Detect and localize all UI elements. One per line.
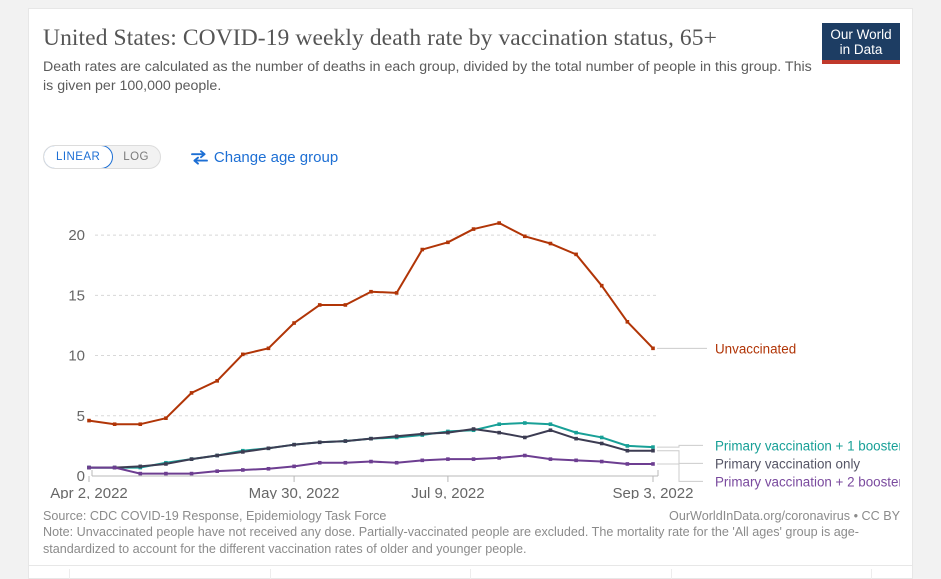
series-point[interactable] [574, 459, 578, 463]
series-point[interactable] [651, 449, 655, 453]
series-point[interactable] [215, 454, 219, 458]
series-point[interactable] [626, 449, 630, 453]
scale-option-linear[interactable]: LINEAR [43, 145, 113, 169]
series-point[interactable] [344, 439, 348, 443]
series-point[interactable] [395, 461, 399, 465]
series-point[interactable] [395, 291, 399, 295]
tab-placeholder-2[interactable] [270, 569, 471, 579]
series-point[interactable] [190, 457, 194, 461]
series-point[interactable] [523, 421, 527, 425]
scale-option-log[interactable]: LOG [112, 146, 160, 168]
chart-header: United States: COVID-19 weekly death rat… [43, 25, 813, 96]
series-point[interactable] [549, 422, 553, 426]
series-point[interactable] [523, 454, 527, 458]
series-point[interactable] [164, 472, 168, 476]
series-point[interactable] [87, 419, 91, 423]
series-point[interactable] [446, 241, 450, 245]
owid-logo-line1: Our World [828, 27, 894, 42]
line-chart[interactable]: 05101520Apr 2, 2022May 30, 2022Jul 9, 20… [43, 179, 900, 499]
y-axis-tick-label: 15 [68, 287, 85, 304]
series-point[interactable] [600, 460, 604, 464]
chart-controls: LINEAR LOG Change age group [43, 145, 344, 169]
series-point[interactable] [472, 427, 476, 431]
note-text: Note: Unvaccinated people have not recei… [43, 524, 900, 557]
series-point[interactable] [241, 450, 245, 454]
series-point[interactable] [626, 444, 630, 448]
tab-placeholder-1[interactable] [69, 569, 270, 579]
y-axis-tick-label: 0 [77, 468, 85, 485]
x-axis-tick-label: Sep 3, 2022 [613, 485, 694, 499]
series-point[interactable] [549, 242, 553, 246]
series-point[interactable] [318, 440, 322, 444]
chart-subtitle: Death rates are calculated as the number… [43, 58, 813, 96]
legend-label-unvaccinated[interactable]: Unvaccinated [715, 341, 796, 356]
series-point[interactable] [626, 462, 630, 466]
series-point[interactable] [472, 457, 476, 461]
change-age-group-button[interactable]: Change age group [185, 148, 344, 167]
series-point[interactable] [497, 456, 501, 460]
series-point[interactable] [215, 469, 219, 473]
series-point[interactable] [267, 446, 271, 450]
series-point[interactable] [574, 253, 578, 257]
series-point[interactable] [446, 457, 450, 461]
legend-leader-line [657, 464, 703, 481]
series-point[interactable] [241, 468, 245, 472]
legend-label-primary-only[interactable]: Primary vaccination only [715, 456, 860, 471]
tab-placeholder-3[interactable] [470, 569, 671, 579]
series-point[interactable] [549, 457, 553, 461]
series-point[interactable] [138, 465, 142, 469]
series-point[interactable] [241, 353, 245, 357]
scale-toggle[interactable]: LINEAR LOG [43, 145, 161, 169]
series-point[interactable] [318, 461, 322, 465]
series-point[interactable] [472, 227, 476, 231]
series-point[interactable] [369, 290, 373, 294]
x-axis-tick-label: Jul 9, 2022 [411, 485, 484, 499]
series-point[interactable] [190, 472, 194, 476]
legend-label-primary-plus-2-boosters[interactable]: Primary vaccination + 2 boosters [715, 474, 900, 489]
series-point[interactable] [369, 460, 373, 464]
x-axis-tick-label: Apr 2, 2022 [50, 485, 128, 499]
series-point[interactable] [164, 416, 168, 420]
series-point[interactable] [497, 221, 501, 225]
series-point[interactable] [574, 431, 578, 435]
change-age-group-label: Change age group [214, 149, 338, 166]
series-point[interactable] [523, 436, 527, 440]
plot-area: 05101520Apr 2, 2022May 30, 2022Jul 9, 20… [43, 179, 900, 499]
legend-label-primary-plus-1-booster[interactable]: Primary vaccination + 1 booster [715, 438, 900, 453]
series-point[interactable] [267, 467, 271, 471]
x-axis-tick-label: May 30, 2022 [249, 485, 340, 499]
series-point[interactable] [600, 284, 604, 288]
series-point[interactable] [395, 434, 399, 438]
series-point[interactable] [497, 431, 501, 435]
series-point[interactable] [420, 248, 424, 252]
chart-page: United States: COVID-19 weekly death rat… [0, 0, 941, 579]
series-point[interactable] [113, 422, 117, 426]
owid-logo[interactable]: Our World in Data [822, 23, 900, 64]
series-point[interactable] [344, 303, 348, 307]
tab-placeholder-4[interactable] [671, 569, 873, 579]
series-line[interactable] [89, 223, 653, 424]
chart-footer: Source: CDC COVID-19 Response, Epidemiol… [43, 509, 900, 557]
series-point[interactable] [164, 462, 168, 466]
series-point[interactable] [651, 347, 655, 351]
series-point[interactable] [369, 437, 373, 441]
series-point[interactable] [138, 422, 142, 426]
series-point[interactable] [523, 234, 527, 238]
series-point[interactable] [651, 462, 655, 466]
source-text: Source: CDC COVID-19 Response, Epidemiol… [43, 509, 386, 523]
series-point[interactable] [215, 379, 219, 383]
series-point[interactable] [190, 391, 194, 395]
chart-title: United States: COVID-19 weekly death rat… [43, 25, 813, 52]
series-point[interactable] [267, 347, 271, 351]
y-axis-tick-label: 5 [77, 408, 85, 425]
swap-arrows-icon [191, 150, 208, 165]
series-point[interactable] [292, 443, 296, 447]
legend-leader-line [657, 451, 703, 464]
chart-tab-strip[interactable] [28, 565, 913, 579]
series-point[interactable] [292, 321, 296, 325]
series-point[interactable] [87, 466, 91, 470]
series-point[interactable] [497, 422, 501, 426]
legend-leader-line [657, 445, 703, 447]
series-point[interactable] [138, 472, 142, 476]
y-axis-tick-label: 10 [68, 348, 85, 365]
series-point[interactable] [420, 432, 424, 436]
series-point[interactable] [420, 459, 424, 463]
series-point[interactable] [292, 465, 296, 469]
series-line[interactable] [89, 456, 653, 474]
series-point[interactable] [549, 428, 553, 432]
series-point[interactable] [574, 437, 578, 441]
chart-card: United States: COVID-19 weekly death rat… [28, 8, 913, 565]
series-point[interactable] [113, 466, 117, 470]
series-point[interactable] [626, 320, 630, 324]
series-point[interactable] [651, 445, 655, 449]
series-point[interactable] [600, 436, 604, 440]
y-axis-tick-label: 20 [68, 227, 85, 244]
owid-logo-line2: in Data [828, 42, 894, 57]
series-point[interactable] [318, 303, 322, 307]
series-point[interactable] [600, 442, 604, 446]
series-point[interactable] [446, 431, 450, 435]
series-point[interactable] [344, 461, 348, 465]
credit-text[interactable]: OurWorldInData.org/coronavirus • CC BY [669, 509, 900, 523]
